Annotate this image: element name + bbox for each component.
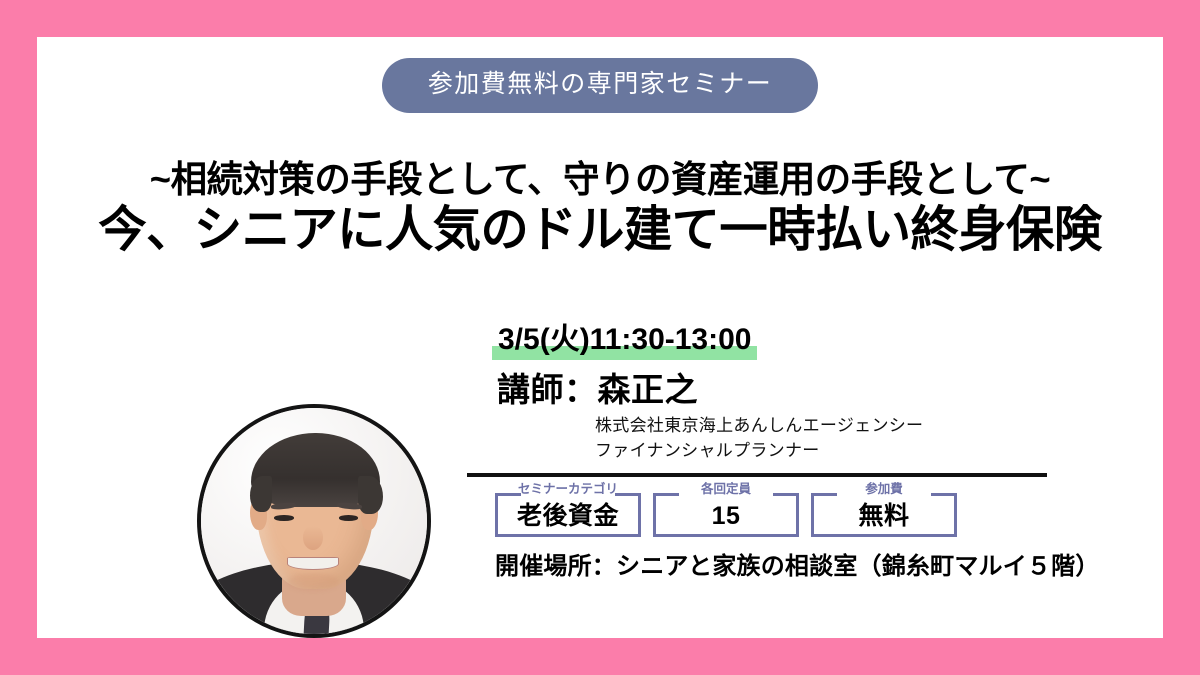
info-box-value: 老後資金 <box>495 504 641 529</box>
info-box-value: 15 <box>653 504 799 529</box>
info-box-group: セミナーカテゴリ 老後資金 各回定員 15 参加費 無料 <box>495 493 1067 537</box>
lecturer-affiliation: 株式会社東京海上あんしんエージェンシー ファイナンシャルプランナー <box>595 414 1067 463</box>
lecturer-portrait-wrap <box>197 404 431 638</box>
info-box-value: 無料 <box>811 504 957 529</box>
info-box-category: セミナーカテゴリ 老後資金 <box>495 493 641 537</box>
seminar-info-column: 3/5(火)11:30-13:00 講師：森正之 株式会社東京海上あんしんエージ… <box>467 325 1067 579</box>
lower-section: 3/5(火)11:30-13:00 講師：森正之 株式会社東京海上あんしんエージ… <box>37 325 1163 638</box>
seminar-datetime: 3/5(火)11:30-13:00 <box>492 325 757 358</box>
info-box-label: セミナーカテゴリ <box>495 483 641 496</box>
headline-subtitle: ~相続対策の手段として、守りの資産運用の手段として~ <box>45 159 1154 200</box>
seminar-poster: 参加費無料の専門家セミナー ~相続対策の手段として、守りの資産運用の手段として~… <box>0 0 1200 675</box>
portrait-eye-right <box>339 515 358 520</box>
affiliation-role: ファイナンシャルプランナー <box>595 439 1067 464</box>
headline-title: 今、シニアに人気のドル建て一時払い終身保険 <box>45 202 1154 260</box>
seminar-venue: 開催場所：シニアと家族の相談室（錦糸町マルイ５階） <box>495 555 1067 579</box>
info-box-fee: 参加費 無料 <box>811 493 957 537</box>
headline-block: ~相続対策の手段として、守りの資産運用の手段として~ 今、シニアに人気のドル建て… <box>37 159 1163 260</box>
poster-canvas: 参加費無料の専門家セミナー ~相続対策の手段として、守りの資産運用の手段として~… <box>37 37 1163 638</box>
portrait-mouth <box>287 557 339 569</box>
portrait-chin <box>287 573 339 591</box>
portrait-hair-side-right <box>358 476 383 514</box>
info-box-label: 各回定員 <box>653 483 799 496</box>
seminar-badge: 参加費無料の専門家セミナー <box>382 58 819 113</box>
portrait-hair-side-left <box>250 476 273 512</box>
datetime-text: 3/5(火)11:30-13:00 <box>498 323 751 356</box>
info-box-label: 参加費 <box>811 483 957 496</box>
lecturer-name: 講師：森正之 <box>497 373 1067 406</box>
lecturer-portrait-photo <box>197 404 431 638</box>
section-divider <box>467 473 1047 477</box>
info-box-capacity: 各回定員 15 <box>653 493 799 537</box>
affiliation-company: 株式会社東京海上あんしんエージェンシー <box>595 414 1067 439</box>
badge-row: 参加費無料の専門家セミナー <box>37 58 1163 113</box>
portrait-eye-left <box>274 515 293 520</box>
